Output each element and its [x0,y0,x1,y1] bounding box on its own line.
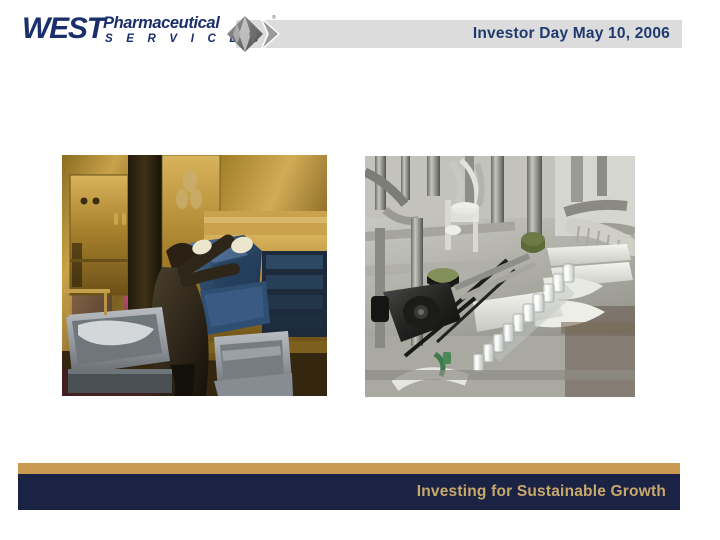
footer-tagline: Investing for Sustainable Growth [417,474,666,510]
footer-bar: Investing for Sustainable Growth [18,474,680,510]
vial-filling-line-photo [365,156,635,397]
autoclave-loading-photo [62,155,327,396]
west-pharmaceutical-services-logo: WEST Pharmaceutical S E R V I C E S ® [22,12,272,52]
logo-pharmaceutical-text: Pharmaceutical [103,15,219,32]
presentation-slide: Investor Day May 10, 2006 WEST Pharmaceu… [0,0,720,540]
registered-trademark-symbol: ® [272,15,276,21]
footer-gold-accent-bar [18,463,680,474]
west-diamond-arrow-mark-icon [227,16,281,52]
logo-brand-text: WEST [22,14,104,44]
header-title: Investor Day May 10, 2006 [236,20,676,48]
